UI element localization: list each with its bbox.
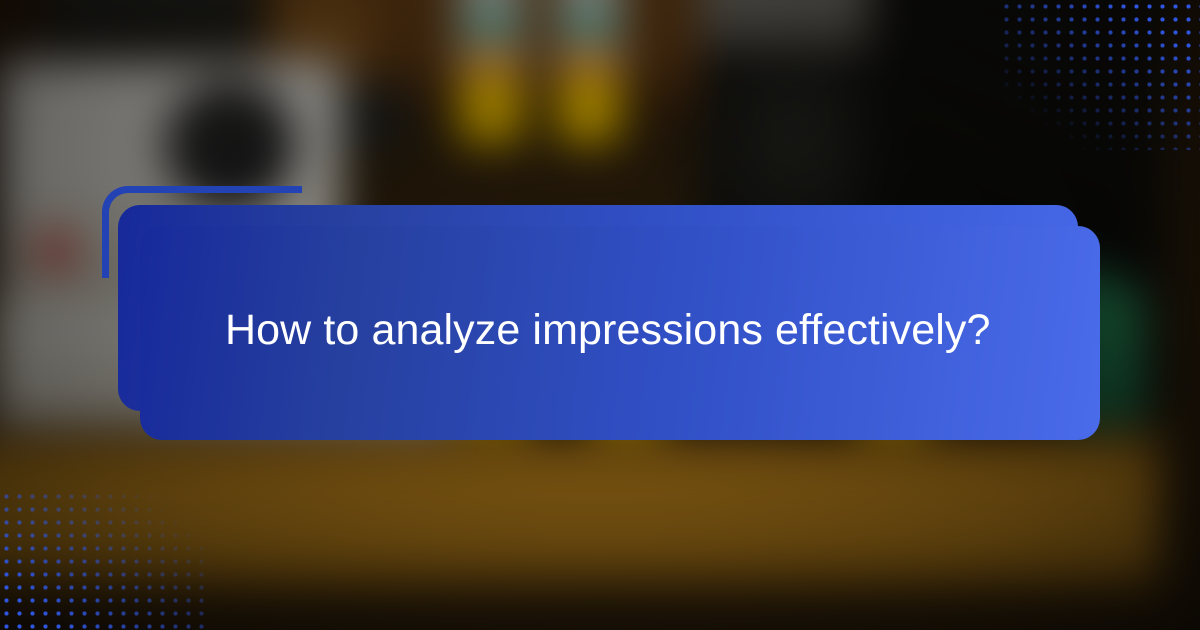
social-card-canvas: How to analyze impressions effectively?	[0, 0, 1200, 630]
page-title: How to analyze impressions effectively?	[225, 300, 1105, 360]
halftone-dots-bottom-left-icon	[0, 490, 210, 630]
halftone-dots-top-right-icon	[1000, 0, 1200, 150]
